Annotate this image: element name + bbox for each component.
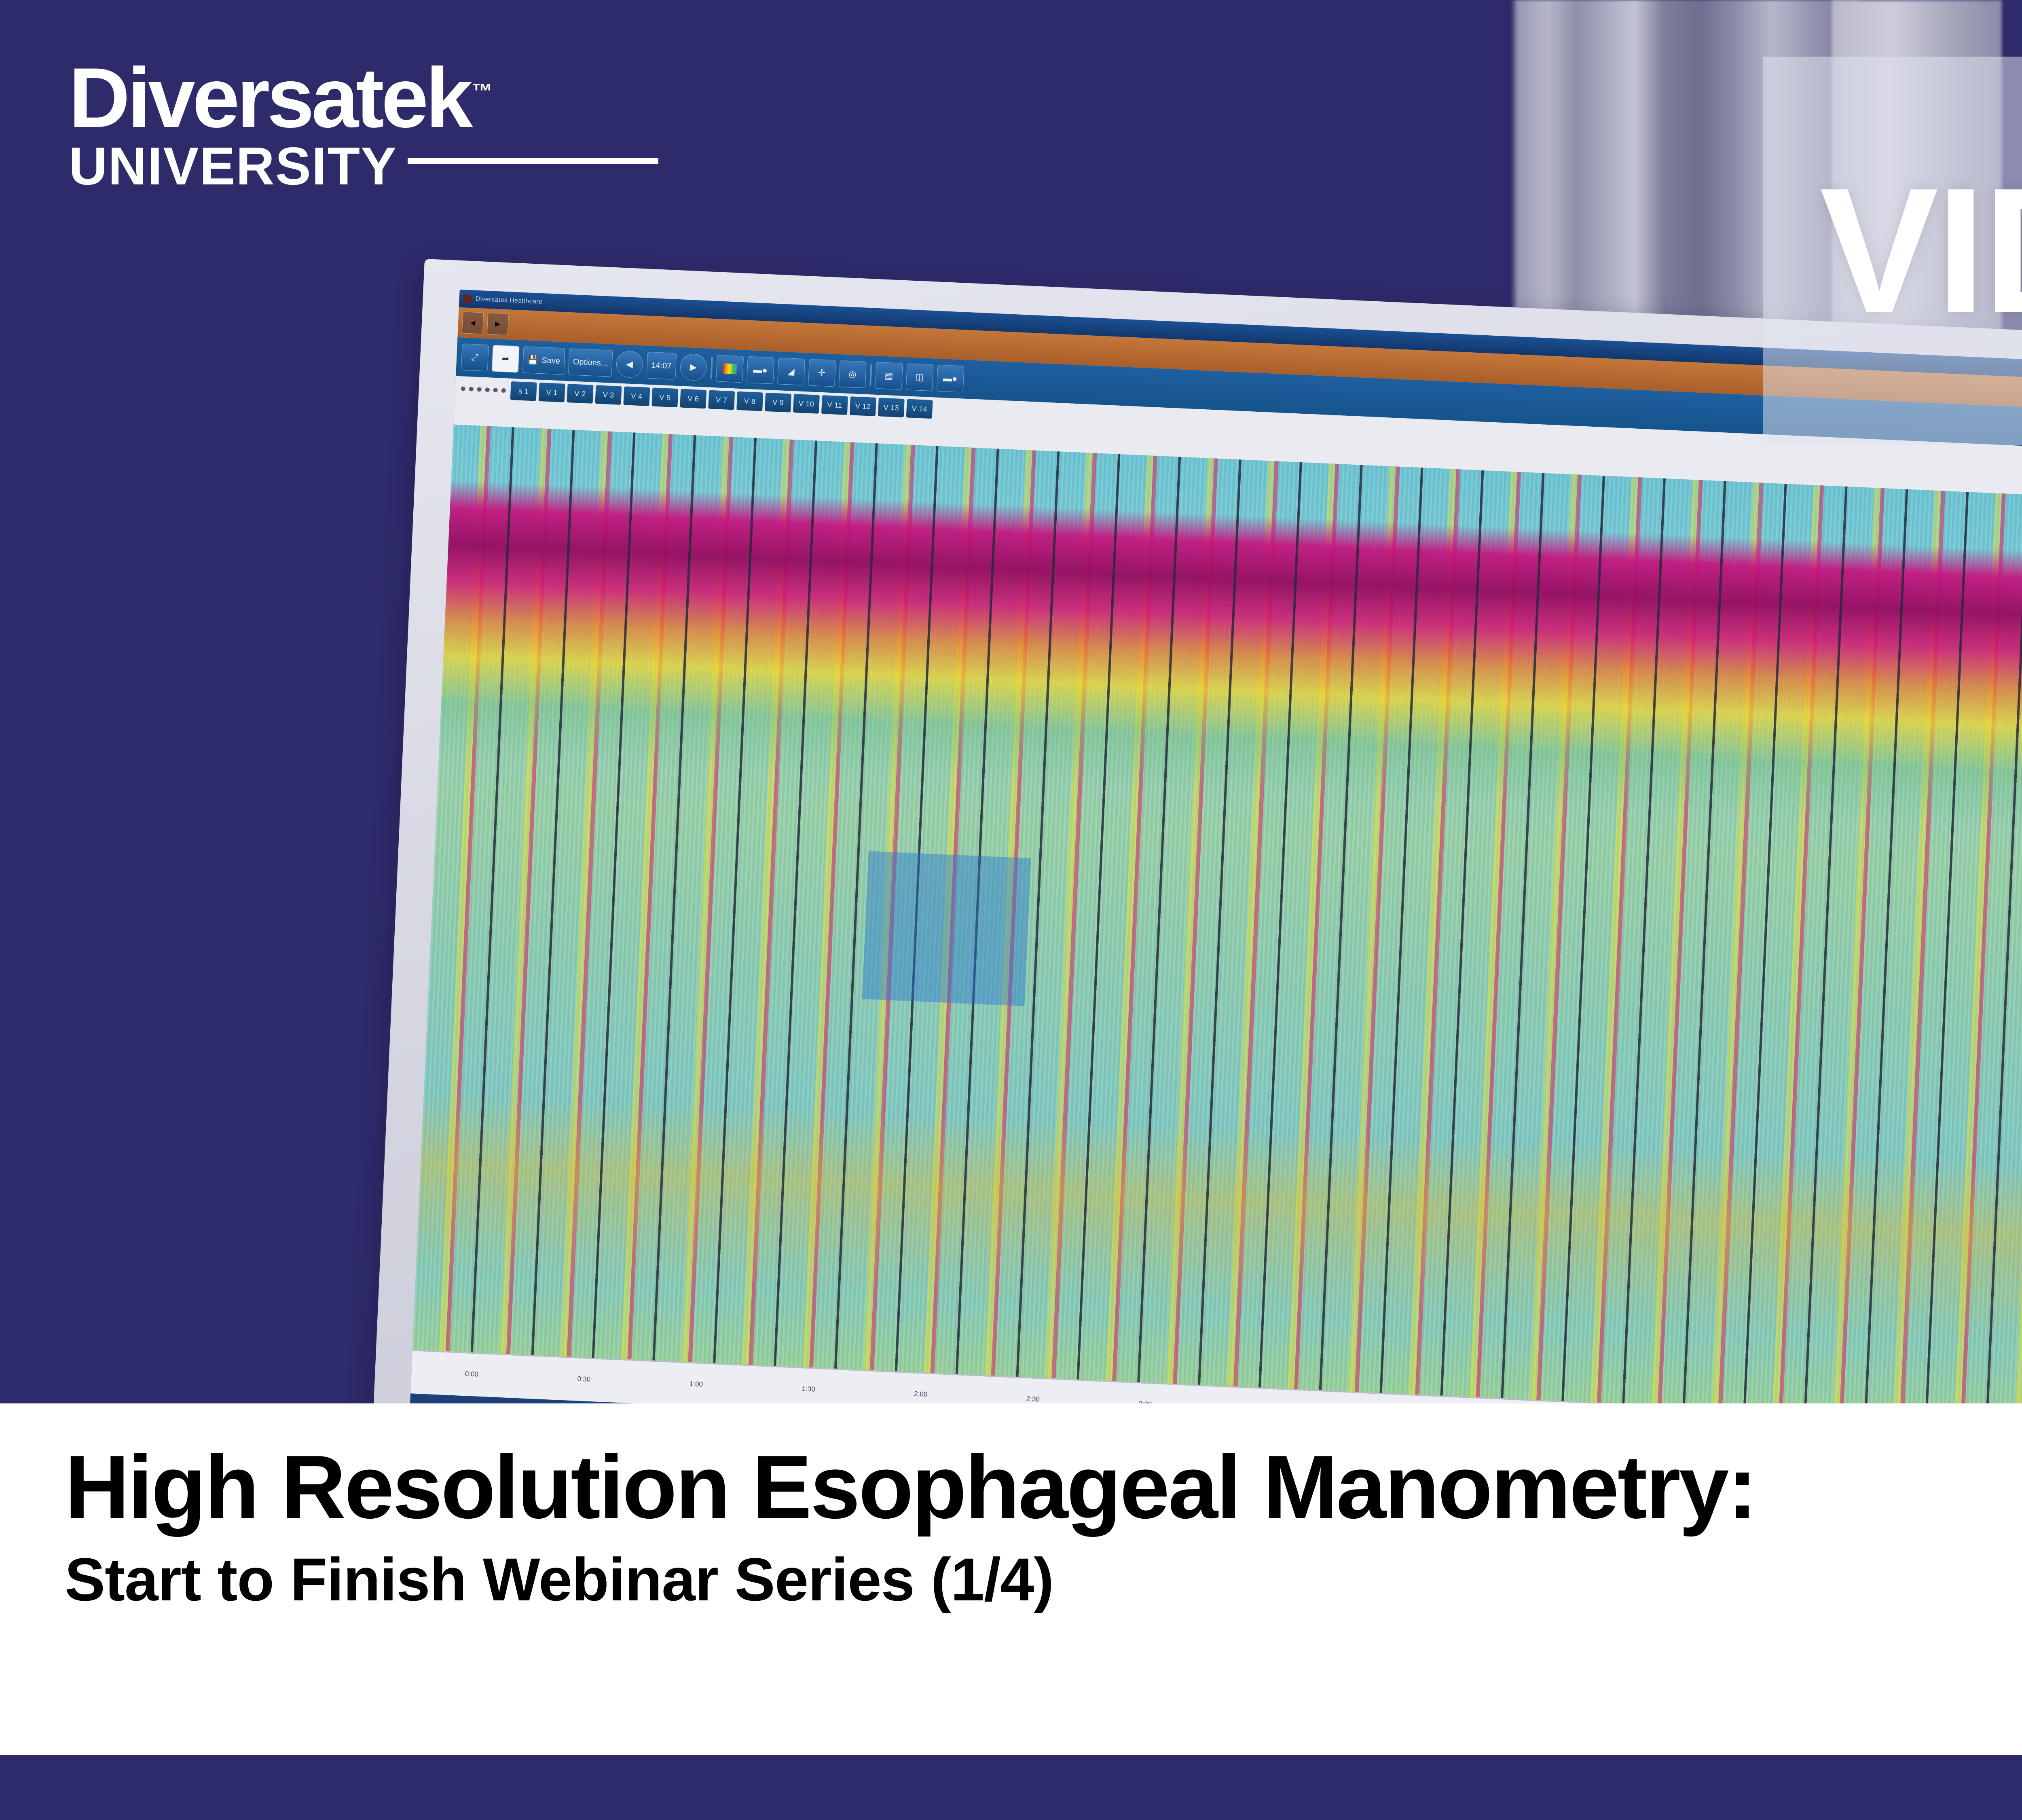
channel-chip[interactable]: V 5: [651, 387, 678, 407]
logo-rule: [408, 158, 658, 164]
impedance-bolus-region: [862, 851, 1031, 1006]
channel-chip[interactable]: V 3: [595, 385, 622, 405]
brand-logo[interactable]: Diversatek™ UNIVERSITY: [69, 61, 658, 193]
channel-chip[interactable]: V 4: [623, 386, 650, 406]
channel-chip[interactable]: s 1: [510, 381, 537, 401]
save-icon: 💾: [527, 356, 539, 365]
channel-chip[interactable]: V 1: [539, 383, 565, 402]
time-tick: 1:30: [752, 1383, 865, 1396]
save-label: Save: [541, 356, 560, 366]
channel-chip[interactable]: V 10: [793, 394, 820, 414]
channel-chip[interactable]: V 9: [765, 393, 791, 413]
timecode-prev-button[interactable]: ◀: [615, 350, 643, 378]
back-arrow-icon[interactable]: ◀: [462, 311, 484, 334]
timecode-next-button[interactable]: ▶: [679, 353, 707, 381]
pointer-icon[interactable]: ➦: [492, 345, 520, 373]
channel-chip[interactable]: V 8: [736, 392, 763, 411]
page-title: High Resolution Esophageal Manometry:: [65, 1442, 1756, 1532]
title-band: High Resolution Esophageal Manometry: St…: [0, 1403, 2022, 1755]
pressure-topography-plot[interactable]: [412, 425, 2022, 1430]
logo-wordmark: Diversatek™: [69, 61, 493, 135]
logo-name: Diversatek: [69, 50, 470, 145]
colormap-icon[interactable]: [716, 355, 744, 383]
crosshair-icon[interactable]: ✛: [808, 359, 836, 387]
split-view-icon[interactable]: ▤: [875, 362, 903, 390]
options-label: Options...: [573, 357, 608, 368]
bottom-navy-strip: [0, 1755, 2022, 1820]
range-slider-icon[interactable]: ▬●: [936, 365, 964, 393]
channel-chip[interactable]: V 13: [878, 398, 905, 417]
timecode-display: 14:07: [646, 352, 677, 380]
title-block: High Resolution Esophageal Manometry: St…: [65, 1442, 1756, 1610]
cursor-icon[interactable]: ⤢: [461, 343, 489, 371]
forward-arrow-icon[interactable]: ▶: [487, 313, 509, 335]
logo-trademark-icon: ™: [472, 80, 493, 103]
logo-subline: UNIVERSITY: [69, 140, 658, 193]
video-badge-band: VIDEO: [1763, 57, 2022, 445]
save-button[interactable]: 💾 Save: [522, 346, 565, 375]
thumbnail-canvas: Diversatek Healthcare ◀ ▶ ▲ ↩ ⤢: [0, 0, 2022, 1820]
channel-row-dots: [461, 386, 506, 393]
channel-chip[interactable]: V 6: [680, 389, 706, 408]
swallow-gridlines: [412, 425, 2022, 1430]
app-icon: [463, 294, 472, 303]
options-button[interactable]: Options...: [568, 348, 613, 377]
compare-icon[interactable]: ◫: [905, 363, 933, 391]
marker-icon[interactable]: ◢: [777, 358, 805, 385]
time-tick: 0:30: [528, 1373, 640, 1386]
zoom-icon[interactable]: ◎: [839, 360, 867, 388]
channel-chip[interactable]: V 14: [906, 399, 933, 419]
page-subtitle: Start to Finish Webinar Series (1/4): [65, 1549, 1756, 1610]
toolbar-divider-1: [710, 357, 713, 379]
contrast-slider-icon[interactable]: ▬●: [747, 356, 774, 384]
channel-chip[interactable]: V 2: [567, 384, 594, 404]
channel-chip[interactable]: V 11: [821, 395, 848, 415]
logo-university-label: UNIVERSITY: [69, 140, 397, 193]
app-title: Diversatek Healthcare: [475, 296, 542, 306]
toolbar-divider-2: [869, 364, 872, 386]
time-tick: 1:00: [640, 1378, 752, 1390]
time-tick: 0:00: [415, 1368, 528, 1381]
time-tick: 2:00: [865, 1388, 977, 1401]
video-badge-label: VIDEO: [1820, 171, 2022, 331]
channel-chip[interactable]: V 12: [850, 396, 876, 416]
channel-chip[interactable]: V 7: [708, 390, 735, 410]
